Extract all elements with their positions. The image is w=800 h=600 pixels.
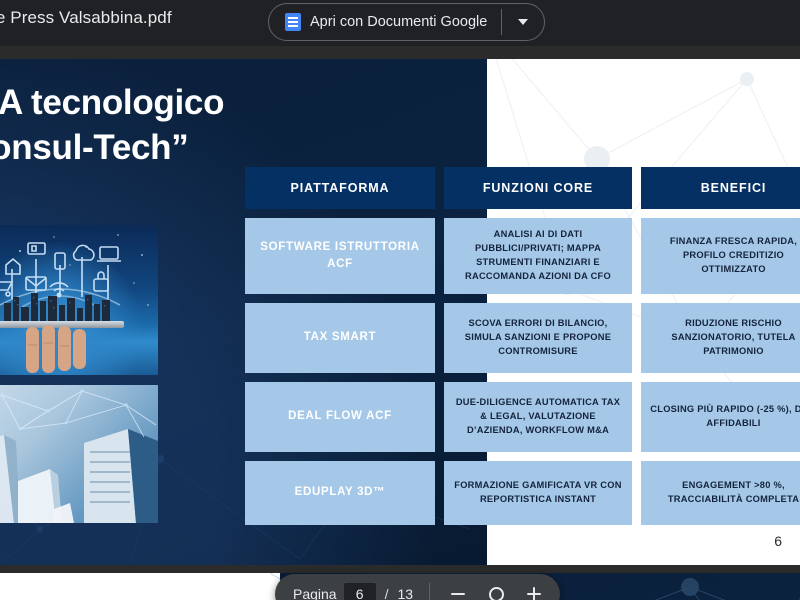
slide-page-number: 6 — [774, 533, 782, 549]
zoom-in-button[interactable] — [516, 576, 552, 600]
open-with-main-action[interactable]: Apri con Documenti Google — [269, 4, 501, 40]
network-lines-decoration — [0, 385, 158, 455]
cell-piattaforma: DEAL FLOW ACF — [245, 382, 435, 452]
chevron-down-icon — [518, 19, 528, 25]
slide-title-line1: DNA tecnologico — [0, 83, 224, 122]
cell-funzioni-core: FORMAZIONE GAMIFICATA VR CON REPORTISTIC… — [444, 461, 632, 525]
table-header-row: PIATTAFORMA FUNZIONI CORE BENEFICI — [245, 167, 800, 209]
cell-benefici: ENGAGEMENT >80 %, TRACCIABILITÀ COMPLETA — [641, 461, 800, 525]
minus-icon — [451, 593, 465, 595]
page-total: 13 — [397, 586, 413, 600]
screen: ☆ GLS VICENZA GLS Italy - Notifica conse… — [0, 0, 800, 600]
platforms-table: PIATTAFORMA FUNZIONI CORE BENEFICI SOFTW… — [245, 167, 800, 525]
table-header-benefici: BENEFICI — [641, 167, 800, 209]
google-docs-icon — [285, 13, 301, 31]
cell-piattaforma: SOFTWARE ISTRUTTORIA ACF — [245, 218, 435, 294]
table-row: SOFTWARE ISTRUTTORIA ACF ANALISI AI DI D… — [245, 218, 800, 294]
cell-benefici: RIDUZIONE RISCHIO SANZIONATORIO, TUTELA … — [641, 303, 800, 373]
zoom-out-button[interactable] — [440, 576, 476, 600]
cell-funzioni-core: ANALISI AI DI DATI PUBBLICI/PRIVATI; MAP… — [444, 218, 632, 294]
open-with-dropdown-button[interactable] — [502, 4, 544, 40]
slide-title-line2: “Consul-Tech” — [0, 126, 418, 171]
cell-funzioni-core: DUE-DILIGENCE AUTOMATICA TAX & LEGAL, VA… — [444, 382, 632, 452]
open-with-label: Apri con Documenti Google — [310, 14, 487, 30]
pdf-viewer-topbar: le Press Valsabbina.pdf Apri con Documen… — [0, 0, 800, 46]
cell-benefici: FINANZA FRESCA RAPIDA, PROFILO CREDITIZI… — [641, 218, 800, 294]
pdf-bottom-toolbar: Pagina / 13 — [275, 574, 560, 600]
pdf-filename: le Press Valsabbina.pdf — [0, 8, 172, 28]
page-navigation-group: Pagina / 13 — [275, 583, 425, 600]
table-row: DEAL FLOW ACF DUE-DILIGENCE AUTOMATICA T… — [245, 382, 800, 452]
zoom-reset-button[interactable] — [478, 576, 514, 600]
slide-title: DNA tecnologico “Consul-Tech” — [0, 81, 418, 171]
plus-icon — [527, 587, 541, 600]
topbar-shadow-strip — [0, 46, 800, 59]
cell-benefici: CLOSING PIÙ RAPIDO (-25 %), DATI AFFIDAB… — [641, 382, 800, 452]
table-row: EDUPLAY 3D™ FORMAZIONE GAMIFICATA VR CON… — [245, 461, 800, 525]
table-header-funzioni-core: FUNZIONI CORE — [444, 167, 632, 209]
pdf-viewer-canvas[interactable]: ☆ GLS VICENZA GLS Italy - Notifica conse… — [0, 46, 800, 600]
pdf-page-6: DNA tecnologico “Consul-Tech” — [0, 59, 800, 565]
magnifier-icon — [489, 587, 504, 600]
table-row: TAX SMART SCOVA ERRORI DI BILANCIO, SIMU… — [245, 303, 800, 373]
skyscrapers-network-overlay-photo — [0, 385, 158, 523]
page-number-input[interactable] — [344, 583, 376, 600]
cell-funzioni-core: SCOVA ERRORI DI BILANCIO, SIMULA SANZION… — [444, 303, 632, 373]
city-skyline-decoration — [2, 291, 114, 323]
divider — [429, 583, 430, 600]
page-label: Pagina — [293, 586, 337, 600]
table-header-piattaforma: PIATTAFORMA — [245, 167, 435, 209]
hand-holding-tablet-smart-city-iot-photo — [0, 225, 158, 375]
hand-decoration — [16, 325, 98, 375]
open-with-google-docs-button[interactable]: Apri con Documenti Google — [268, 3, 545, 41]
page-separator: / — [383, 586, 391, 600]
cell-piattaforma: EDUPLAY 3D™ — [245, 461, 435, 525]
cell-piattaforma: TAX SMART — [245, 303, 435, 373]
zoom-controls-group — [434, 576, 560, 600]
